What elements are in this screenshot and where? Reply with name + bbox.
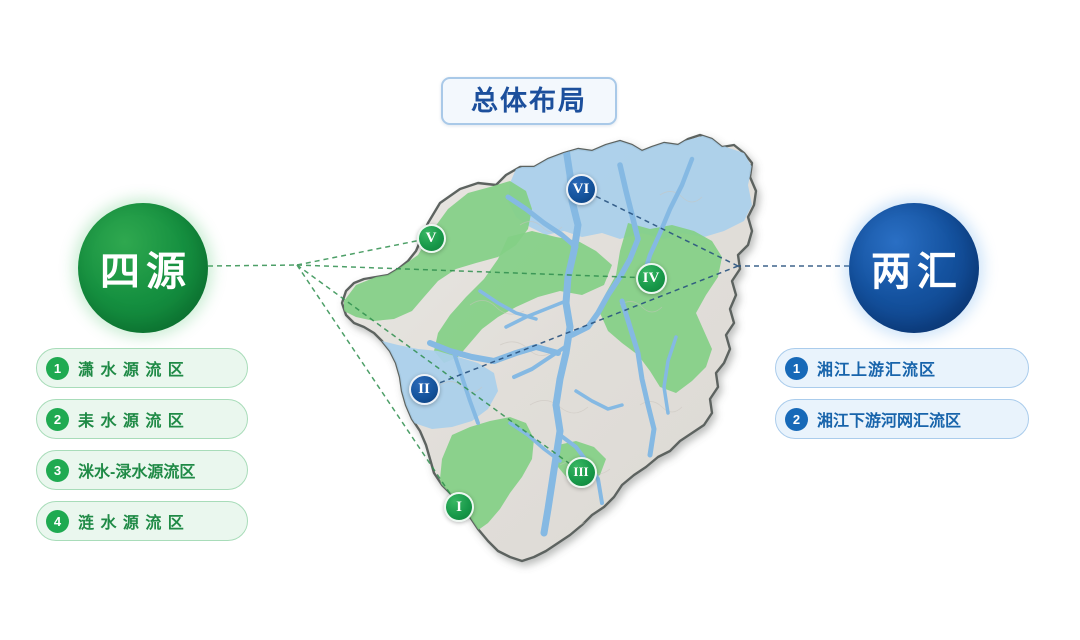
- legend-number-badge: 4: [46, 510, 69, 533]
- legend-item-label: 湘江下游河网汇流区: [817, 407, 961, 431]
- infographic-canvas: 总体布局 四源 两汇 1 潇 水 源 流 区 2 耒 水 源 流 区 3 洣水-…: [0, 0, 1080, 640]
- page-title-text: 总体布局: [471, 88, 587, 115]
- basin-map: [320, 105, 770, 595]
- legend-number-badge: 1: [46, 357, 69, 380]
- map-marker-vi[interactable]: VI: [566, 174, 597, 205]
- legend-item-label: 湘江上游汇流区: [817, 356, 936, 380]
- map-marker-label: V: [426, 230, 437, 247]
- hub-two-confluences-label: 两汇: [865, 239, 963, 297]
- legend-item-label: 涟 水 源 流 区: [78, 509, 185, 533]
- map-marker-label: II: [418, 381, 430, 398]
- legend-item-source-1[interactable]: 1 潇 水 源 流 区: [36, 348, 248, 388]
- legend-number-badge: 1: [785, 357, 808, 380]
- legend-item-confluence-2[interactable]: 2 湘江下游河网汇流区: [775, 399, 1029, 439]
- map-marker-i[interactable]: I: [444, 492, 474, 522]
- legend-number-badge: 3: [46, 459, 69, 482]
- map-marker-label: III: [573, 464, 588, 480]
- hub-four-sources-label: 四源: [94, 239, 192, 297]
- legend-item-label: 耒 水 源 流 区: [78, 407, 185, 431]
- hub-two-confluences[interactable]: 两汇: [849, 203, 979, 333]
- legend-number-badge: 2: [785, 408, 808, 431]
- page-title: 总体布局: [441, 77, 617, 125]
- legend-item-source-4[interactable]: 4 涟 水 源 流 区: [36, 501, 248, 541]
- legend-number-badge: 2: [46, 408, 69, 431]
- map-marker-iii[interactable]: III: [566, 457, 597, 488]
- map-marker-label: IV: [643, 270, 660, 287]
- hub-four-sources[interactable]: 四源: [78, 203, 208, 333]
- map-marker-iv[interactable]: IV: [636, 263, 667, 294]
- legend-item-source-2[interactable]: 2 耒 水 源 流 区: [36, 399, 248, 439]
- legend-item-confluence-1[interactable]: 1 湘江上游汇流区: [775, 348, 1029, 388]
- connector-green-trunk: [208, 265, 297, 266]
- legend-item-label: 洣水-渌水源流区: [78, 458, 195, 482]
- map-marker-v[interactable]: V: [417, 224, 446, 253]
- map-marker-label: I: [456, 499, 462, 516]
- legend-item-label: 潇 水 源 流 区: [78, 356, 185, 380]
- legend-item-source-3[interactable]: 3 洣水-渌水源流区: [36, 450, 248, 490]
- map-marker-label: VI: [573, 181, 590, 198]
- map-marker-ii[interactable]: II: [409, 374, 440, 405]
